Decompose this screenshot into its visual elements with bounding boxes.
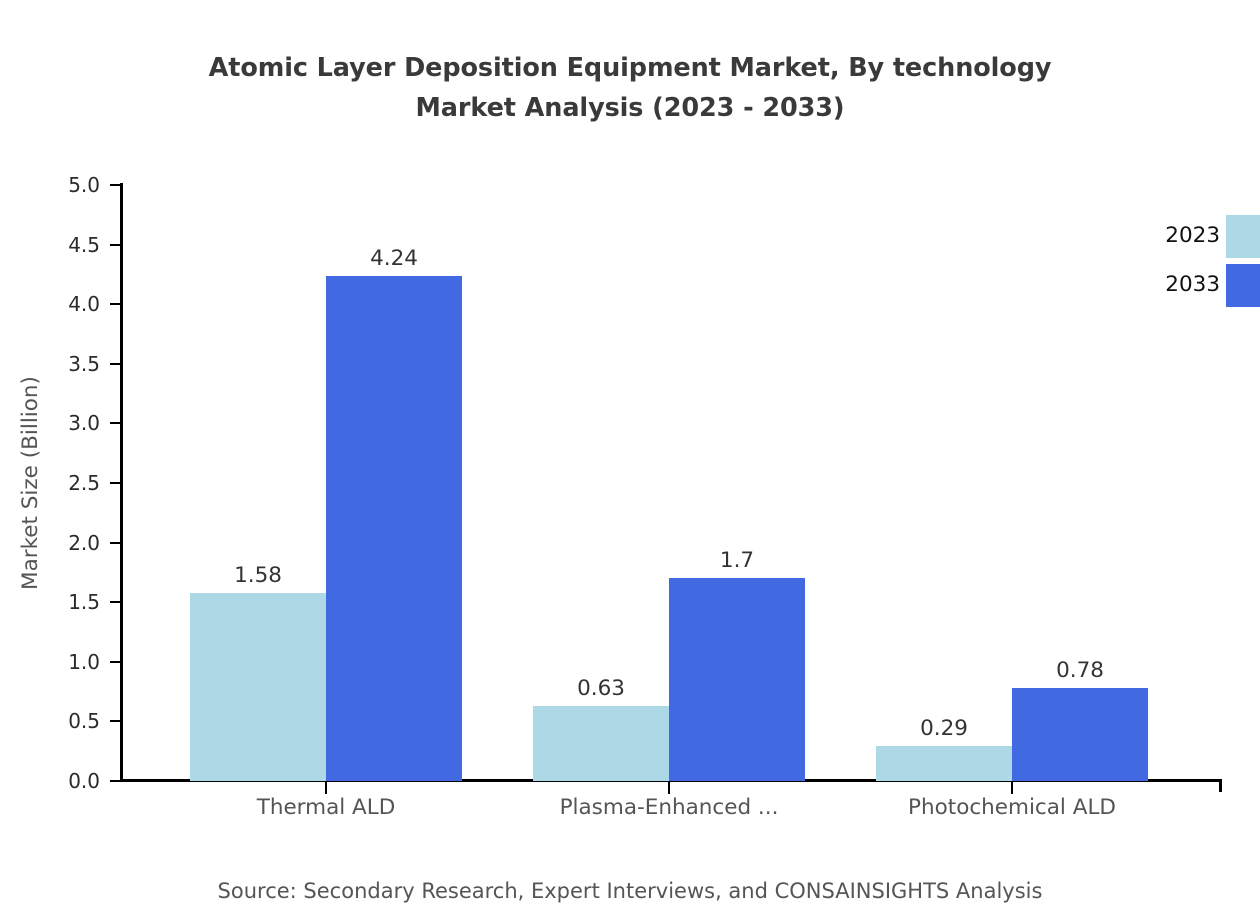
- bar-2033-0[interactable]: [326, 276, 462, 781]
- x-axis-category-label: Photochemical ALD: [812, 795, 1212, 821]
- legend-swatch: [1226, 215, 1260, 258]
- x-axis-category-label: Plasma-Enhanced ...: [469, 795, 869, 821]
- x-axis-category-label: Thermal ALD: [126, 795, 526, 821]
- legend-swatch: [1226, 264, 1260, 307]
- bar-value-label: 0.29: [876, 717, 1012, 741]
- legend-label: 2023: [1135, 224, 1220, 248]
- bar-value-label: 1.58: [190, 564, 326, 588]
- bar-2023-0[interactable]: [190, 593, 326, 781]
- bar-value-label: 0.63: [533, 677, 669, 701]
- bar-2023-1[interactable]: [533, 706, 669, 781]
- legend-label: 2033: [1135, 273, 1220, 297]
- bar-value-label: 4.24: [326, 247, 462, 271]
- chart-title: Atomic Layer Deposition Equipment Market…: [0, 48, 1260, 128]
- chart-legend: 20232033: [1135, 215, 1260, 310]
- y-axis-label: Market Size (Billion): [14, 185, 48, 781]
- chart-title-line-1: Atomic Layer Deposition Equipment Market…: [209, 53, 1052, 83]
- legend-item-2023[interactable]: 2023: [1135, 215, 1260, 258]
- bar-value-label: 1.7: [669, 549, 805, 573]
- x-axis-tick: [668, 781, 670, 794]
- bar-2023-2[interactable]: [876, 746, 1012, 781]
- x-axis-tick: [325, 781, 327, 794]
- legend-item-2033[interactable]: 2033: [1135, 264, 1260, 307]
- x-axis-tick: [1011, 781, 1013, 794]
- bar-value-label: 0.78: [1012, 659, 1148, 683]
- chart-title-line-2: Market Analysis (2023 - 2033): [0, 88, 1260, 128]
- chart-figure: Atomic Layer Deposition Equipment Market…: [0, 0, 1260, 920]
- plot-area: 1.584.240.631.70.290.78: [122, 185, 1222, 781]
- source-note: Source: Secondary Research, Expert Inter…: [0, 877, 1260, 905]
- bar-2033-1[interactable]: [669, 578, 805, 781]
- bar-2033-2[interactable]: [1012, 688, 1148, 781]
